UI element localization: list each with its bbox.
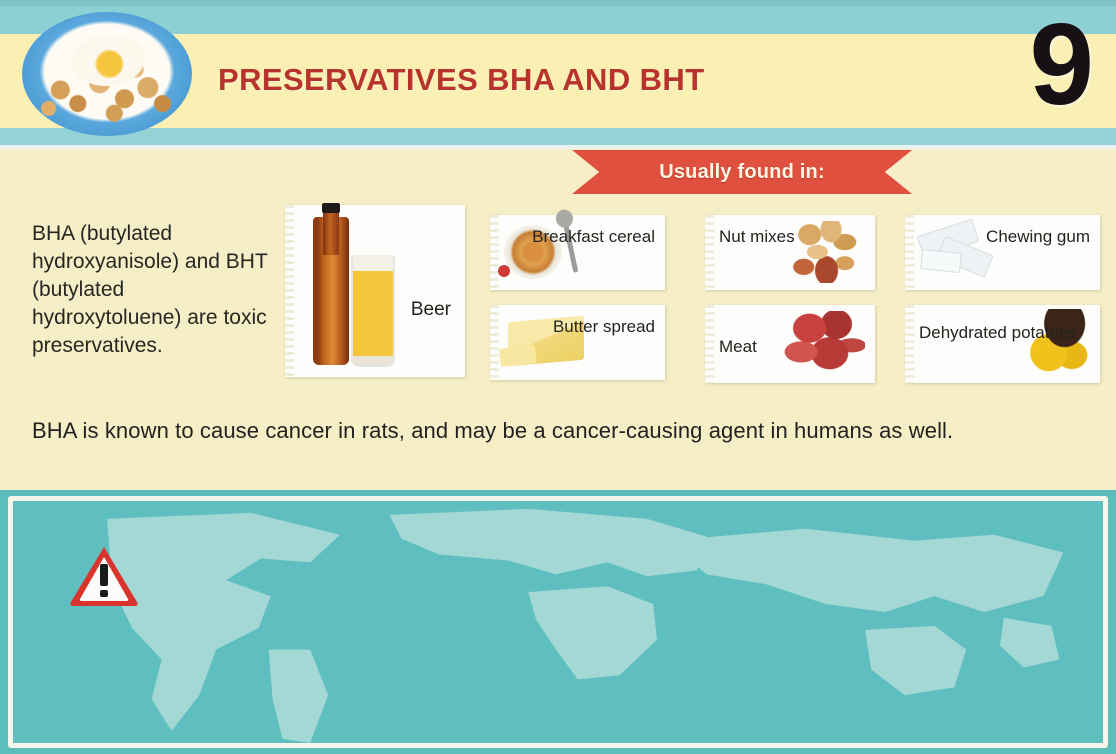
food-card-meat: Meat: [705, 305, 875, 383]
beer-glass-shape: [351, 255, 395, 367]
torn-edge: [705, 215, 714, 290]
header-bottom-teal-band: [0, 128, 1116, 145]
cereal-plate-icon: [22, 12, 192, 136]
top-section: PRESERVATIVES BHA AND BHT 9 Usually foun…: [0, 0, 1116, 490]
food-card-label: Beer: [411, 299, 451, 322]
food-card-dehydrated-potatoes: Dehydrated potatoes: [905, 305, 1100, 383]
ribbon-label: Usually found in:: [572, 150, 912, 194]
food-card-chewing-gum: Chewing gum: [905, 215, 1100, 290]
beer-bottle-icon: [285, 205, 405, 377]
infographic-page: PRESERVATIVES BHA AND BHT 9 Usually foun…: [0, 0, 1116, 754]
torn-edge: [905, 305, 914, 383]
page-title: PRESERVATIVES BHA AND BHT: [218, 62, 705, 98]
food-card-label: Butter spread: [553, 317, 655, 337]
food-card-label: Chewing gum: [986, 227, 1090, 247]
gum-stick-shape: [920, 249, 962, 273]
food-card-breakfast-cereal: Breakfast cereal: [490, 215, 665, 290]
food-card-nut-mixes: Nut mixes: [705, 215, 875, 290]
nuts-icon: [787, 221, 863, 283]
risks-section: RISKS: BHA can trigger allergic reaction…: [0, 490, 1116, 754]
food-card-beer: Beer: [285, 205, 465, 377]
risks-panel-frame: [8, 496, 1108, 748]
beer-cap-shape: [322, 203, 340, 213]
food-card-butter-spread: Butter spread: [490, 305, 665, 380]
butter-slice-shape: [499, 345, 537, 367]
food-card-label: Nut mixes: [719, 227, 795, 247]
warning-triangle-icon: [68, 544, 140, 608]
header-white-divider: [0, 145, 1116, 149]
intro-paragraph: BHA (butylated hydroxyanisole) and BHT (…: [32, 220, 277, 360]
raw-meat-icon: [781, 311, 865, 377]
issue-number: 9: [1029, 6, 1094, 122]
fact-statement: BHA is known to cause cancer in rats, an…: [32, 418, 1082, 444]
usually-found-in-ribbon: Usually found in:: [572, 150, 912, 194]
food-card-label: Meat: [719, 337, 757, 357]
berry-shape: [498, 265, 510, 277]
world-map-background: [13, 501, 1103, 748]
food-card-label: Dehydrated potatoes: [919, 323, 1077, 343]
header-teal-thin-line: [0, 0, 1116, 6]
torn-edge: [705, 305, 714, 383]
food-card-label: Breakfast cereal: [532, 227, 655, 247]
